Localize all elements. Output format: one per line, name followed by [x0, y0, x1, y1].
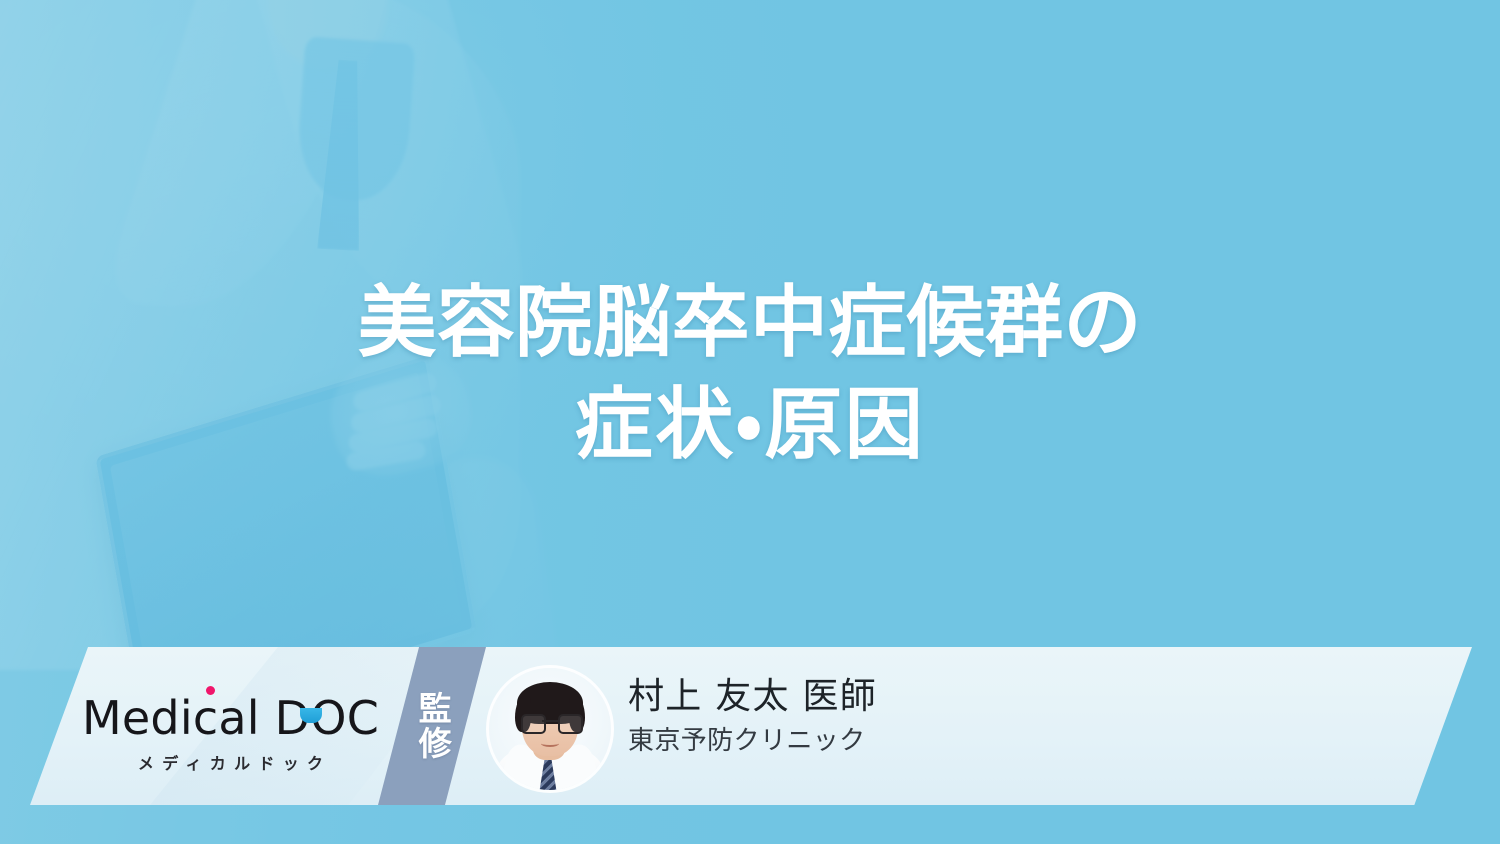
page-title: 美容院脳卒中症候群の 症状・原因 — [0, 273, 1500, 476]
pink-dot-icon — [206, 686, 215, 695]
glasses-icon — [558, 714, 583, 734]
medical-doc-logo[interactable]: Medical DOC メディカルドック — [88, 688, 373, 780]
badge-label: 監修 — [413, 691, 451, 761]
doctor-name: 村上 友太 医師 — [628, 676, 877, 718]
avatar-mouth — [541, 740, 559, 747]
blue-liquid-drop-icon — [300, 708, 322, 723]
logo-wordmark: Medical DOC — [82, 695, 379, 741]
doctor-credit: 村上 友太 医師 東京予防クリニック — [628, 676, 877, 758]
doctor-clinic: 東京予防クリニック — [628, 726, 877, 757]
title-line-2: 症状・原因 — [0, 375, 1500, 476]
glasses-bridge — [542, 720, 558, 722]
glasses-icon — [521, 714, 546, 734]
title-line-1: 美容院脳卒中症候群の — [0, 273, 1500, 374]
hero-banner-slide: 美容院脳卒中症候群の 症状・原因 Medical DOC メディカルドック 監修 — [0, 0, 1500, 844]
avatar — [489, 668, 611, 790]
logo-kana-subtitle: メディカルドック — [130, 750, 332, 774]
